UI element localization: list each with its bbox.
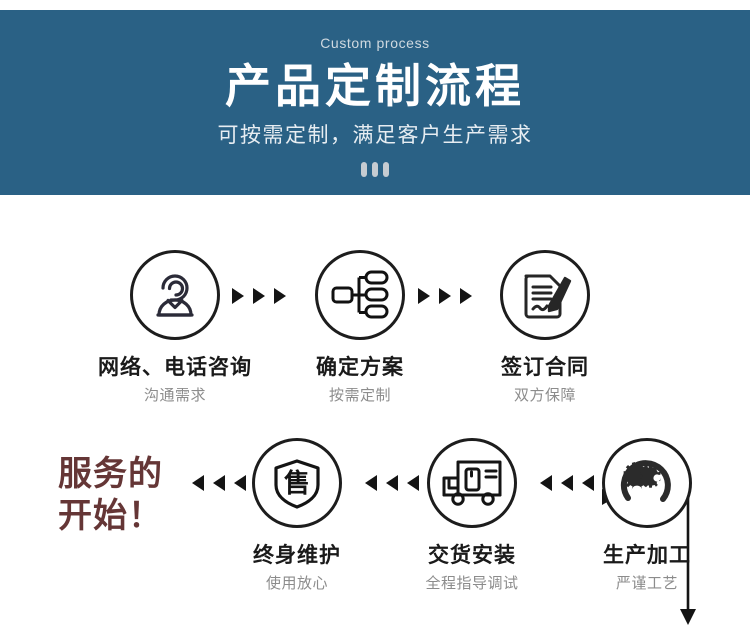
step-title-1: 网络、电话咨询 xyxy=(95,354,255,380)
step-title-5: 交货安装 xyxy=(392,542,552,568)
header-banner: Custom process 产品定制流程 可按需定制，满足客户生产需求 xyxy=(0,10,750,195)
step-sub-2: 按需定制 xyxy=(280,386,440,406)
step-title-6: 终身维护 xyxy=(217,542,377,568)
arrow-right-icon xyxy=(253,288,265,304)
page-title: 产品定制流程 xyxy=(225,58,525,114)
step-node-2[interactable]: 确定方案 按需定制 xyxy=(280,250,440,406)
arrow-right-icon xyxy=(439,288,451,304)
step-sub-1: 沟通需求 xyxy=(95,386,255,406)
gears-production-icon xyxy=(602,438,692,528)
step-node-5[interactable]: 交货安装 全程指导调试 xyxy=(392,438,552,594)
banner-subtitle: 可按需定制，满足客户生产需求 xyxy=(218,122,533,150)
step-title-3: 签订合同 xyxy=(465,354,625,380)
arrow-right-icon xyxy=(232,288,244,304)
start-label: 服务的 开始！ xyxy=(58,453,193,537)
step-node-6[interactable]: 售 终身维护 使用放心 xyxy=(217,438,377,594)
arrow-left-icon xyxy=(540,475,552,491)
delivery-truck-icon xyxy=(427,438,517,528)
step-sub-5: 全程指导调试 xyxy=(392,574,552,594)
arrow-right-icon xyxy=(418,288,430,304)
start-label-line2: 开始！ xyxy=(58,495,193,537)
dot-3 xyxy=(383,162,389,177)
page-root: Custom process 产品定制流程 可按需定制，满足客户生产需求 网络、… xyxy=(0,0,750,630)
dot-1 xyxy=(361,162,367,177)
arrows-step2-to-step3 xyxy=(418,288,472,304)
arrows-step1-to-step2 xyxy=(232,288,286,304)
consultation-person-icon xyxy=(130,250,220,340)
shield-service-icon: 售 xyxy=(252,438,342,528)
contract-signing-icon xyxy=(500,250,590,340)
step-title-4: 生产加工 xyxy=(567,542,727,568)
step-node-4[interactable]: 生产加工 严谨工艺 xyxy=(567,438,727,594)
flowchart-plan-icon xyxy=(315,250,405,340)
step-sub-4: 严谨工艺 xyxy=(567,574,727,594)
start-label-line1: 服务的 xyxy=(58,453,193,495)
decorative-dots xyxy=(361,162,389,177)
dot-2 xyxy=(372,162,378,177)
banner-eyebrow: Custom process xyxy=(320,34,430,52)
arrow-left-icon xyxy=(192,475,204,491)
step-sub-3: 双方保障 xyxy=(465,386,625,406)
process-flow: 网络、电话咨询 沟通需求 确定方案 按需定制 xyxy=(0,195,750,630)
step-node-3[interactable]: 签订合同 双方保障 xyxy=(465,250,625,406)
shield-glyph-text: 售 xyxy=(284,468,310,499)
step-node-1[interactable]: 网络、电话咨询 沟通需求 xyxy=(95,250,255,406)
step-title-2: 确定方案 xyxy=(280,354,440,380)
step-sub-6: 使用放心 xyxy=(217,574,377,594)
arrow-left-icon xyxy=(365,475,377,491)
